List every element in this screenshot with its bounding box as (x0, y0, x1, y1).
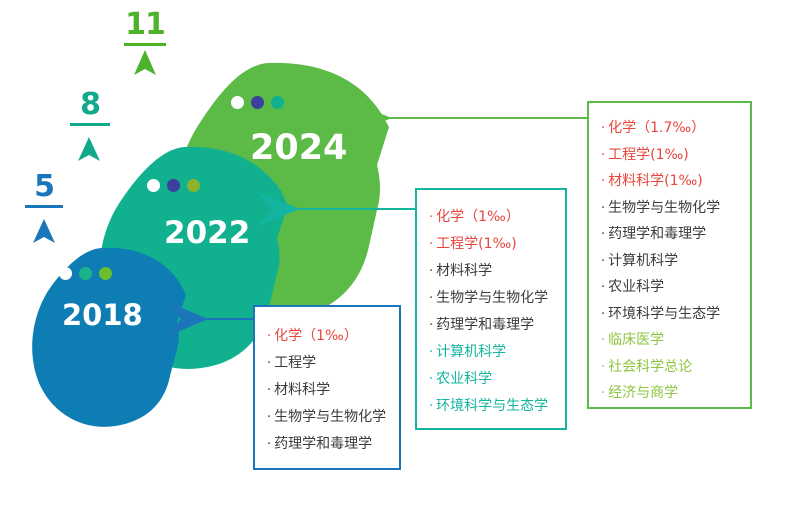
arrow-up-icon-5 (33, 219, 55, 243)
bullet-icon: · (601, 281, 605, 294)
bullet-icon: · (429, 319, 433, 332)
list-box-2024: ·化学（1.7‰）·工程学(1‰)·材料科学(1‰)·生物学与生物化学·药理学和… (587, 101, 752, 409)
list-item-label: 生物学与生物化学 (608, 195, 720, 222)
blob-2022-dot-1 (147, 179, 160, 192)
list-item-label: 经济与商学 (608, 380, 678, 407)
bullet-icon: · (429, 238, 433, 251)
list-item-label: 计算机科学 (608, 248, 678, 275)
bullet-icon: · (601, 228, 605, 241)
bullet-icon: · (267, 438, 271, 451)
bullet-icon: · (601, 175, 605, 188)
list-item-label: 临床医学 (608, 327, 664, 354)
bullet-icon: · (601, 361, 605, 374)
bullet-icon: · (267, 411, 271, 424)
bullet-icon: · (429, 292, 433, 305)
bullet-icon: · (601, 149, 605, 162)
list-item: ·材料科学 (267, 377, 399, 404)
list-item-label: 工程学 (274, 350, 316, 377)
connector-2018-arrowhead (168, 302, 208, 336)
bullet-icon: · (267, 330, 271, 343)
connector-2022-arrowhead (258, 192, 300, 226)
blob-2024-dot-1 (231, 96, 244, 109)
list-item-label: 化学（1‰） (436, 204, 520, 231)
list-item-label: 农业科学 (608, 274, 664, 301)
counter-8-value: 8 (68, 90, 112, 120)
connector-2018 (168, 302, 253, 336)
list-item-label: 社会科学总论 (608, 354, 692, 381)
bullet-icon: · (429, 400, 433, 413)
list-item-label: 材料科学 (436, 258, 492, 285)
bullet-icon: · (601, 202, 605, 215)
list-item: ·化学（1.7‰） (601, 115, 750, 142)
list-item-label: 工程学(1‰) (436, 231, 517, 258)
list-item-label: 农业科学 (436, 366, 492, 393)
blob-2024-dot-2 (251, 96, 264, 109)
list-item: ·计算机科学 (601, 248, 750, 275)
list-item: ·经济与商学 (601, 380, 750, 407)
blob-2024-dots (231, 96, 284, 109)
list-item-label: 工程学(1‰) (608, 142, 689, 169)
blob-2018-year: 2018 (62, 301, 143, 330)
arrow-up-icon-11 (134, 50, 156, 75)
list-item: ·工程学(1‰) (429, 231, 565, 258)
arrow-up-icon-8 (78, 137, 100, 161)
blob-2022-dot-3 (187, 179, 200, 192)
infographic-canvas: 11 8 5 2024 2022 2018 ·化学（1‰）·工程学·材料科学·生… (0, 0, 798, 513)
list-box-2022-items: ·化学（1‰）·工程学(1‰)·材料科学·生物学与生物化学·药理学和毒理学·计算… (417, 190, 565, 420)
connector-2022 (258, 192, 415, 226)
list-item: ·计算机科学 (429, 339, 565, 366)
list-item: ·工程学(1‰) (601, 142, 750, 169)
counter-11-rule (124, 43, 166, 46)
list-box-2018-items: ·化学（1‰）·工程学·材料科学·生物学与生物化学·药理学和毒理学 (255, 307, 399, 458)
list-item: ·生物学与生物化学 (601, 195, 750, 222)
list-item: ·农业科学 (429, 366, 565, 393)
list-item: ·生物学与生物化学 (429, 285, 565, 312)
list-item-label: 材料科学 (274, 377, 330, 404)
blob-2024-year: 2024 (250, 131, 347, 166)
list-item-label: 环境科学与生态学 (436, 393, 548, 420)
counter-5: 5 (23, 172, 65, 210)
list-item-label: 化学（1‰） (274, 323, 358, 350)
blob-2018-dots (59, 267, 112, 280)
list-item: ·材料科学(1‰) (601, 168, 750, 195)
blob-2022-year: 2022 (164, 218, 250, 249)
blob-2018-dot-2 (79, 267, 92, 280)
blob-2018-dot-1 (59, 267, 72, 280)
counter-8-rule (70, 123, 110, 126)
list-item: ·生物学与生物化学 (267, 404, 399, 431)
counter-5-value: 5 (23, 172, 65, 202)
list-box-2018: ·化学（1‰）·工程学·材料科学·生物学与生物化学·药理学和毒理学 (253, 305, 401, 470)
list-item: ·化学（1‰） (429, 204, 565, 231)
counter-11: 11 (121, 10, 169, 48)
list-item: ·环境科学与生态学 (601, 301, 750, 328)
bullet-icon: · (601, 308, 605, 321)
bullet-icon: · (601, 122, 605, 135)
list-item: ·材料科学 (429, 258, 565, 285)
list-item: ·工程学 (267, 350, 399, 377)
list-item-label: 生物学与生物化学 (274, 404, 386, 431)
list-item: ·社会科学总论 (601, 354, 750, 381)
list-item: ·药理学和毒理学 (601, 221, 750, 248)
list-item: ·环境科学与生态学 (429, 393, 565, 420)
counter-8: 8 (68, 90, 112, 128)
blob-2018-dot-3 (99, 267, 112, 280)
list-item-label: 环境科学与生态学 (608, 301, 720, 328)
bullet-icon: · (429, 373, 433, 386)
bullet-icon: · (601, 334, 605, 347)
blob-2024-dot-3 (271, 96, 284, 109)
list-item-label: 药理学和毒理学 (436, 312, 534, 339)
list-item: ·化学（1‰） (267, 323, 399, 350)
counter-5-rule (25, 205, 63, 208)
counter-11-value: 11 (121, 10, 169, 40)
blob-2022-dots (147, 179, 200, 192)
list-item-label: 药理学和毒理学 (608, 221, 706, 248)
list-item-label: 生物学与生物化学 (436, 285, 548, 312)
list-item: ·农业科学 (601, 274, 750, 301)
list-box-2022: ·化学（1‰）·工程学(1‰)·材料科学·生物学与生物化学·药理学和毒理学·计算… (415, 188, 567, 430)
connector-2024-arrowhead (350, 102, 392, 134)
list-item-label: 材料科学(1‰) (608, 168, 703, 195)
blob-2022-dot-2 (167, 179, 180, 192)
list-item-label: 药理学和毒理学 (274, 431, 372, 458)
bullet-icon: · (267, 384, 271, 397)
bullet-icon: · (601, 255, 605, 268)
list-item: ·药理学和毒理学 (429, 312, 565, 339)
bullet-icon: · (429, 346, 433, 359)
connector-2024 (350, 102, 587, 134)
list-item: ·药理学和毒理学 (267, 431, 399, 458)
list-item-label: 化学（1.7‰） (608, 115, 705, 142)
bullet-icon: · (429, 265, 433, 278)
bullet-icon: · (267, 357, 271, 370)
bullet-icon: · (601, 387, 605, 400)
list-item: ·临床医学 (601, 327, 750, 354)
list-box-2024-items: ·化学（1.7‰）·工程学(1‰)·材料科学(1‰)·生物学与生物化学·药理学和… (589, 103, 750, 407)
list-item-label: 计算机科学 (436, 339, 506, 366)
bullet-icon: · (429, 211, 433, 224)
